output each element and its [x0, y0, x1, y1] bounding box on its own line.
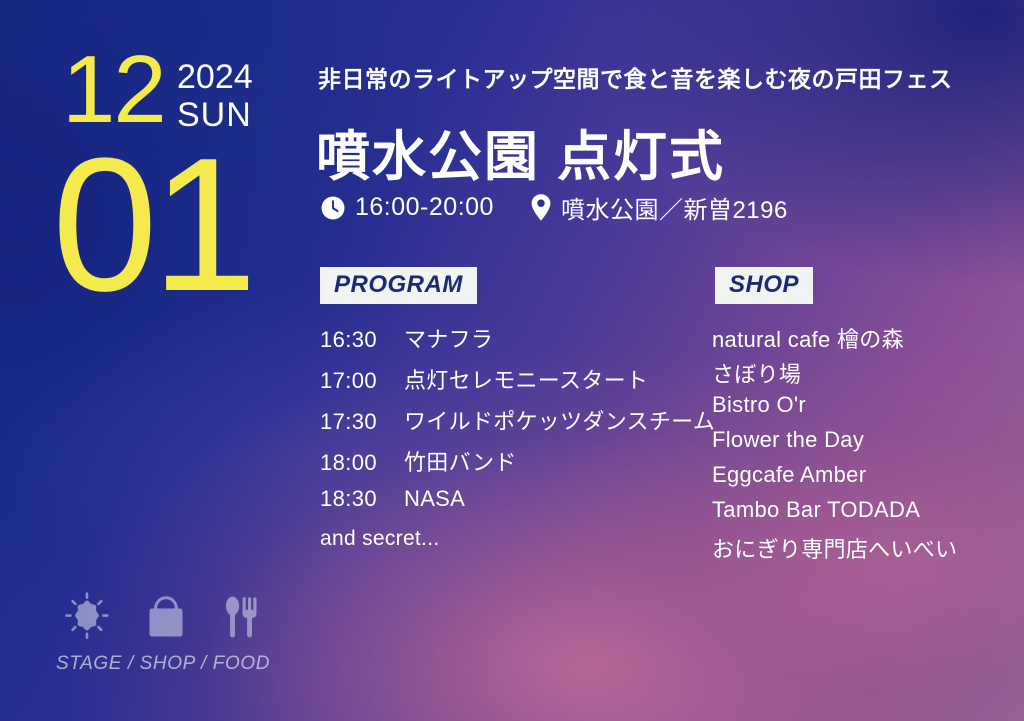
shop-item: おにぎり専門店へいべい	[712, 532, 957, 567]
footer-caption: STAGE / SHOP / FOOD	[56, 653, 270, 675]
shop-item: さぼり場	[712, 357, 957, 392]
spoon-fork-icon	[220, 593, 262, 646]
event-time-text: 16:00-20:00	[355, 193, 494, 222]
program-section-label: PROGRAM	[320, 267, 477, 304]
shop-item: Flower the Day	[712, 427, 957, 462]
program-item: 18:00 竹田バンド	[320, 445, 715, 486]
event-location-text: 噴水公園／新曽2196	[561, 190, 788, 225]
program-item-name: 竹田バンド	[404, 445, 517, 477]
program-item-name: ワイルドポケッツダンスチーム	[404, 404, 715, 436]
program-item-name: NASA	[404, 486, 465, 512]
event-title: 噴水公園 点灯式	[316, 112, 725, 191]
event-meta-row: 16:00-20:00 噴水公園／新曽2196	[320, 190, 788, 225]
program-list: 16:30 マナフラ 17:00 点灯セレモニースタート 17:30 ワイルドポ…	[320, 322, 715, 568]
program-item-time: 16:30	[320, 327, 400, 353]
clock-icon	[320, 195, 346, 221]
event-date-block: 12 2024 SUN 01	[52, 38, 322, 318]
shop-item: Bistro O'r	[712, 392, 957, 427]
footer-category-group: STAGE / SHOP / FOOD	[56, 596, 270, 675]
program-item-time: 17:30	[320, 409, 400, 435]
shop-item: natural cafe 檜の森	[712, 322, 957, 357]
program-note: and secret...	[320, 527, 715, 568]
shop-list: natural cafe 檜の森 さぼり場 Bistro O'r Flower …	[712, 322, 957, 567]
program-item-name: 点灯セレモニースタート	[404, 363, 648, 395]
program-item: 18:30 NASA	[320, 486, 715, 527]
program-item: 17:00 点灯セレモニースタート	[320, 363, 715, 404]
program-item-time: 17:00	[320, 368, 400, 394]
shop-item: Eggcafe Amber	[712, 462, 957, 497]
sparkle-star-icon	[62, 591, 112, 646]
map-pin-icon	[530, 193, 552, 222]
event-tagline: 非日常のライトアップ空間で食と音を楽しむ夜の戸田フェス	[318, 60, 953, 94]
program-item-time: 18:00	[320, 450, 400, 476]
shopping-bag-icon	[144, 593, 188, 646]
shop-item: Tambo Bar TODADA	[712, 497, 957, 532]
program-item: 16:30 マナフラ	[320, 322, 715, 363]
event-location: 噴水公園／新曽2196	[530, 190, 788, 225]
event-poster: 12 2024 SUN 01 非日常のライトアップ空間で食と音を楽しむ夜の戸田フ…	[0, 0, 1024, 721]
date-day: 01	[52, 130, 251, 320]
date-year: 2024	[177, 60, 253, 96]
event-time: 16:00-20:00	[320, 193, 494, 222]
shop-section-label: SHOP	[715, 267, 813, 304]
program-item: 17:30 ワイルドポケッツダンスチーム	[320, 404, 715, 445]
footer-icon-row	[56, 596, 270, 646]
program-item-time: 18:30	[320, 486, 400, 512]
program-item-name: マナフラ	[404, 322, 493, 354]
